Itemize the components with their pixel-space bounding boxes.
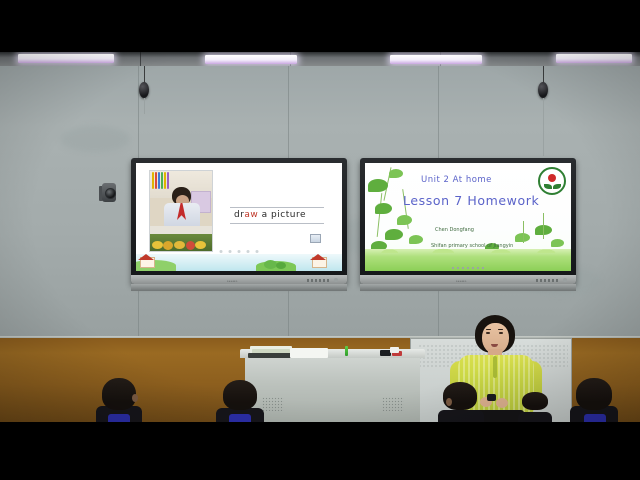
lotus-leaf bbox=[368, 179, 388, 192]
presentation-clicker bbox=[487, 394, 496, 401]
right-display-screen[interactable]: Unit 2 At home Lesson 7 Homework Chen Do… bbox=[365, 163, 571, 271]
ceiling-light bbox=[390, 55, 482, 64]
student-head-4 bbox=[570, 378, 618, 422]
left-display-brand: seewo bbox=[227, 279, 238, 283]
right-interactive-display[interactable]: Unit 2 At home Lesson 7 Homework Chen Do… bbox=[360, 158, 576, 284]
left-display-power-button[interactable] bbox=[334, 278, 338, 282]
student-head-1 bbox=[96, 378, 142, 422]
left-display-buttons[interactable] bbox=[307, 279, 329, 282]
speaker-icon[interactable] bbox=[310, 234, 321, 243]
phrase-highlight: aw bbox=[244, 210, 258, 220]
podium-open-sheet bbox=[290, 348, 328, 358]
letterbox-top bbox=[0, 0, 640, 52]
microphone-cable-left-lower bbox=[144, 98, 145, 114]
podium-green-marker bbox=[345, 346, 348, 356]
ptz-wall-camera bbox=[99, 183, 119, 203]
phrase-suffix: a picture bbox=[258, 210, 306, 220]
slide-pager-dots bbox=[452, 267, 484, 269]
student-head-5 bbox=[518, 400, 552, 422]
handwriting-line-top bbox=[230, 207, 324, 208]
right-slide: Unit 2 At home Lesson 7 Homework Chen Do… bbox=[365, 163, 571, 271]
lotus-leaf bbox=[409, 235, 423, 244]
vocabulary-phrase: draw a picture bbox=[234, 210, 306, 220]
slide-lesson-title: Lesson 7 Homework bbox=[403, 193, 539, 208]
school-crest-icon bbox=[538, 167, 566, 195]
lotus-leaf bbox=[397, 215, 412, 225]
handwriting-line-bottom bbox=[230, 223, 324, 224]
photo-fruit-row bbox=[150, 234, 212, 251]
video-frame: draw a picture bbox=[0, 52, 640, 422]
teacher-blouse-placket bbox=[493, 356, 497, 378]
ceiling-light bbox=[556, 54, 632, 63]
left-display-lower-trim bbox=[131, 284, 347, 291]
student-head-2 bbox=[216, 380, 264, 422]
teacher-podium bbox=[240, 349, 425, 422]
lotus-leaf bbox=[385, 229, 403, 240]
slide-author: Chen Dongfang bbox=[435, 227, 474, 233]
camera-lens-icon bbox=[105, 188, 116, 199]
left-display-screen[interactable]: draw a picture bbox=[136, 163, 342, 271]
letterbox-bottom bbox=[0, 422, 640, 480]
lotus-leaf bbox=[375, 203, 392, 214]
right-display-power-button[interactable] bbox=[563, 278, 567, 282]
left-interactive-display[interactable]: draw a picture bbox=[131, 158, 347, 284]
lotus-leaf bbox=[389, 169, 403, 178]
hanging-microphone-left bbox=[139, 82, 149, 98]
right-display-lower-trim bbox=[360, 284, 576, 291]
ceiling-light bbox=[18, 54, 114, 63]
podium-book-stack bbox=[248, 353, 292, 358]
right-display-brand: seewo bbox=[456, 279, 467, 283]
podium-white-card bbox=[390, 347, 399, 353]
slide-unit-title: Unit 2 At home bbox=[421, 175, 492, 185]
student-head-3 bbox=[438, 384, 484, 422]
left-slide: draw a picture bbox=[136, 163, 342, 271]
podium-vent bbox=[262, 397, 284, 411]
ceiling-light bbox=[205, 55, 297, 64]
slide-pager-dots bbox=[220, 250, 259, 253]
slide-footer-village bbox=[136, 254, 342, 271]
slide-photo-child-drawing bbox=[149, 170, 213, 252]
microphone-cable-right-lower bbox=[543, 98, 544, 156]
screenshot-root: draw a picture bbox=[0, 0, 640, 480]
photo-pens bbox=[152, 172, 172, 192]
hanging-microphone-right bbox=[538, 82, 548, 98]
phrase-prefix: dr bbox=[234, 210, 244, 220]
teacher-hand-right bbox=[496, 398, 508, 408]
right-display-buttons[interactable] bbox=[536, 279, 558, 282]
podium-vent bbox=[382, 397, 404, 411]
